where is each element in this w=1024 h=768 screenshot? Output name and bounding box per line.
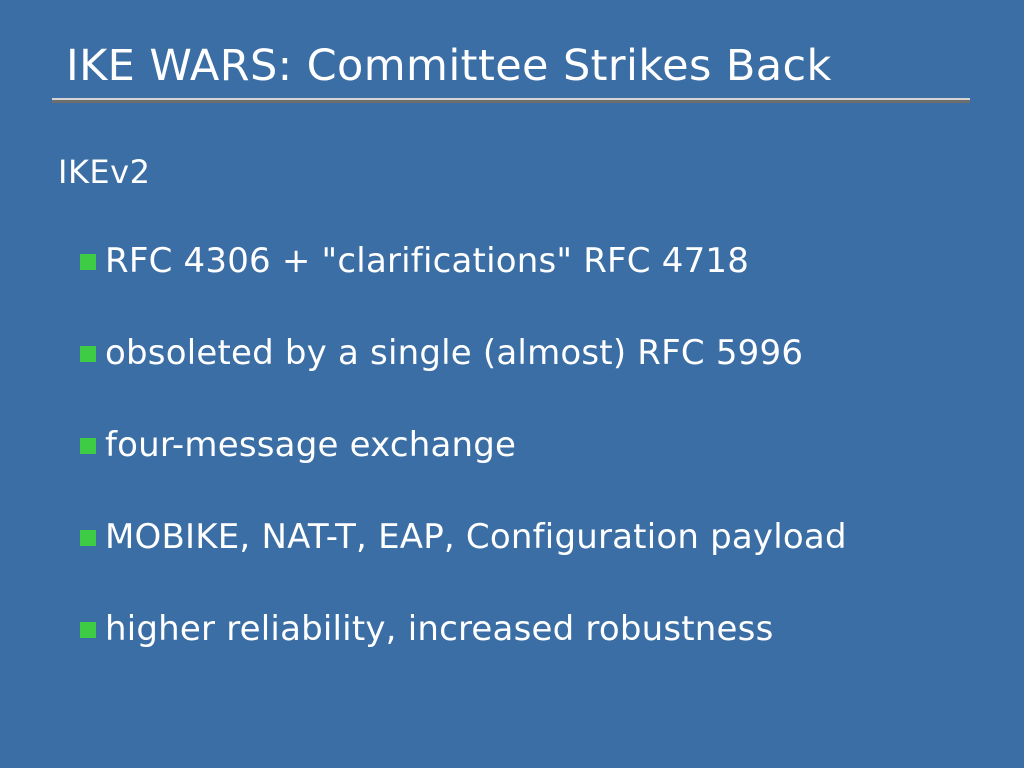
list-item: obsoleted by a single (almost) RFC 5996 bbox=[80, 332, 980, 424]
list-item: RFC 4306 + "clarifications" RFC 4718 bbox=[80, 240, 980, 332]
list-item: four-message exchange bbox=[80, 424, 980, 516]
list-item-label: MOBIKE, NAT-T, EAP, Configuration payloa… bbox=[105, 516, 980, 558]
list-item-label: higher reliability, increased robustness bbox=[105, 608, 980, 650]
presentation-slide: IKE WARS: Committee Strikes Back IKEv2 R… bbox=[0, 0, 1024, 768]
title-underline-rule bbox=[52, 98, 970, 103]
subtitle-ikev2: IKEv2 bbox=[58, 152, 150, 192]
list-item-label: four-message exchange bbox=[105, 424, 980, 466]
bullet-list: RFC 4306 + "clarifications" RFC 4718 obs… bbox=[80, 240, 980, 700]
list-item: higher reliability, increased robustness bbox=[80, 608, 980, 700]
square-bullet-icon bbox=[80, 438, 96, 454]
list-item-label: obsoleted by a single (almost) RFC 5996 bbox=[105, 332, 980, 374]
slide-title: IKE WARS: Committee Strikes Back bbox=[52, 38, 970, 94]
list-item: MOBIKE, NAT-T, EAP, Configuration payloa… bbox=[80, 516, 980, 608]
square-bullet-icon bbox=[80, 622, 96, 638]
list-item-label: RFC 4306 + "clarifications" RFC 4718 bbox=[105, 240, 980, 282]
title-block: IKE WARS: Committee Strikes Back bbox=[52, 38, 970, 103]
square-bullet-icon bbox=[80, 346, 96, 362]
square-bullet-icon bbox=[80, 530, 96, 546]
square-bullet-icon bbox=[80, 254, 96, 270]
